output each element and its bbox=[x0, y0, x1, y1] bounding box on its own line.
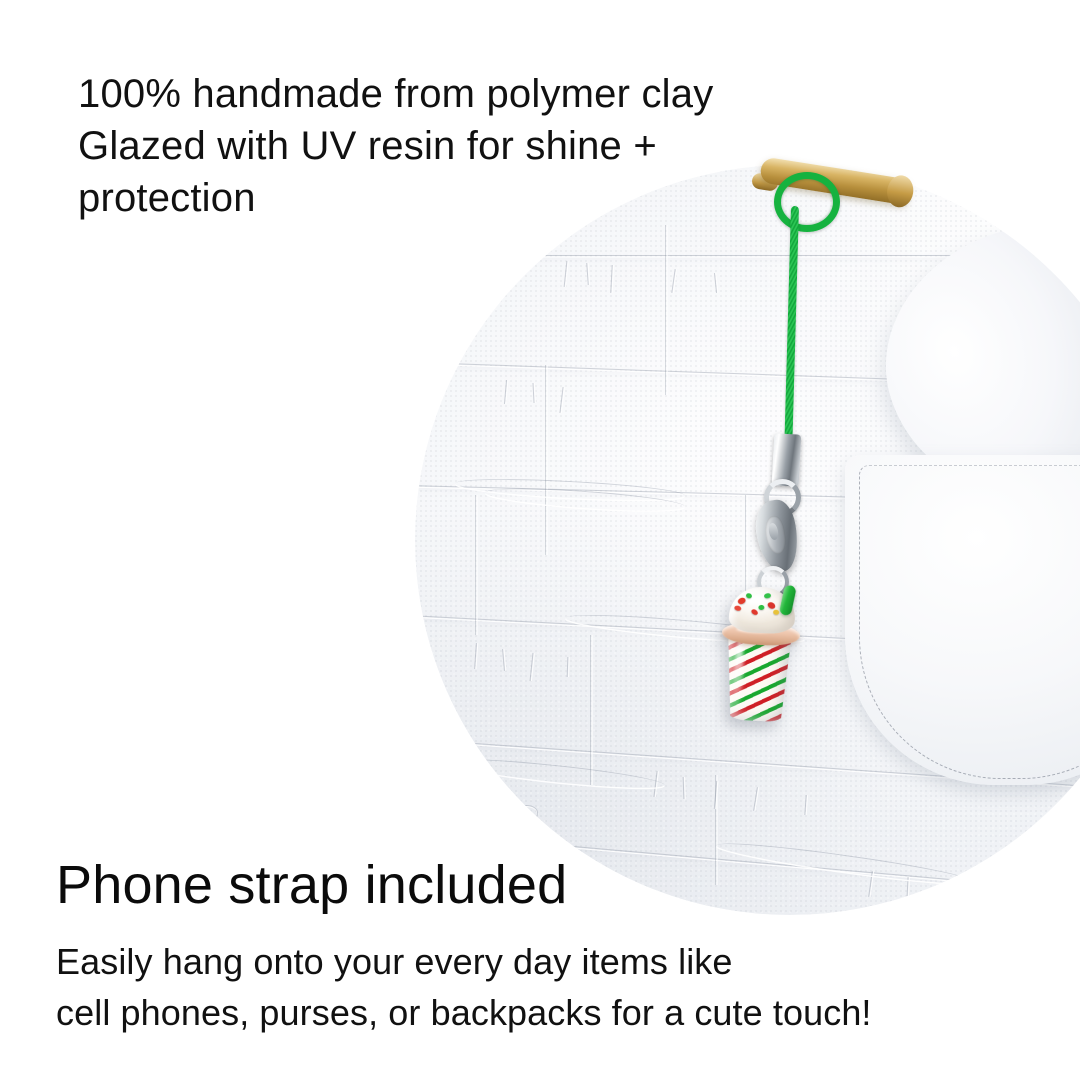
croc-panel-line bbox=[475, 495, 476, 635]
croc-panel-line bbox=[545, 365, 546, 555]
top-description-text: 100% handmade from polymer clay Glazed w… bbox=[78, 68, 868, 224]
product-photo-circle bbox=[415, 165, 1080, 915]
croc-scale bbox=[454, 796, 481, 814]
product-infographic: 100% handmade from polymer clay Glazed w… bbox=[0, 0, 1080, 1080]
croc-panel-line bbox=[665, 225, 666, 395]
bottom-description-text: Easily hang onto your every day items li… bbox=[56, 936, 976, 1038]
croc-panel-line bbox=[590, 635, 591, 785]
croc-scale bbox=[514, 804, 539, 820]
croc-panel-line bbox=[745, 495, 746, 645]
bottom-heading: Phone strap included bbox=[56, 857, 567, 914]
